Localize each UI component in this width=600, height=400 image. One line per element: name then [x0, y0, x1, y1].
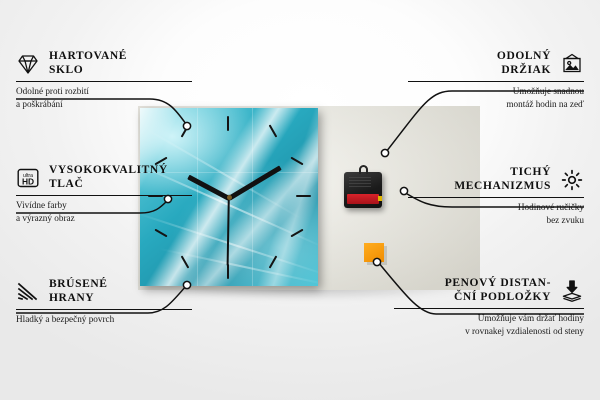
feature-title-line2: TLAČ [49, 178, 168, 192]
divider [408, 81, 584, 82]
feature-desc-line2: bez zvuku [408, 214, 584, 227]
feature-title-line2: HRANY [49, 292, 108, 306]
feature-desc-line1: Umožňuje vám držať hodiny [394, 312, 584, 325]
divider [408, 197, 584, 198]
gear-icon [560, 168, 584, 192]
battery [347, 194, 379, 204]
feature-desc-line2: a výrazný obraz [16, 212, 192, 225]
clock-tick [296, 195, 311, 197]
feature-title-line1: ODOLNÝ [497, 50, 551, 64]
feature-title-line2: DRŽIAK [497, 64, 551, 78]
foam-spacer-pad [364, 243, 384, 262]
feature-title-line2: MECHANIZMUS [454, 180, 551, 194]
feature-title-line1: HARTOVANÉ [49, 50, 127, 64]
feature-print: ultra HD VYSOKOKVALITNÝ TLAČ Vivídne far… [16, 164, 192, 225]
feature-mechanism: TICHÝ MECHANIZMUS Hodinové ručičky bez z… [408, 166, 584, 227]
feature-desc-line2: v rovnakej vzdialenosti od steny [394, 325, 584, 338]
infographic-stage: HARTOVANÉ SKLO Odolné proti rozbití a po… [0, 0, 600, 400]
feature-title-line2: SKLO [49, 64, 127, 78]
feature-foam: PENOVÝ DISTAN- ČNÍ PODLOŽKY Umožňuje vám… [394, 277, 584, 338]
divider [394, 308, 584, 309]
feature-glass: HARTOVANÉ SKLO Odolné proti rozbití a po… [16, 50, 192, 111]
clock-center-pivot [227, 195, 232, 200]
arrow-onto-layers-icon [560, 279, 584, 303]
feature-title-line1: TICHÝ [454, 166, 551, 180]
feature-desc-line2: montáž hodin na zeď [408, 98, 584, 111]
diagonal-lines-icon [16, 280, 40, 304]
feature-desc-line1: Vivídne farby [16, 199, 192, 212]
feature-title-line1: VYSOKOKVALITNÝ [49, 164, 168, 178]
feature-desc-line1: Odolné proti rozbití [16, 85, 192, 98]
ultra-hd-icon-main: HD [22, 176, 34, 186]
feature-holder: ODOLNÝ DRŽIAK Umožňuje snadnou montáž ho… [408, 50, 584, 111]
feature-title-line1: PENOVÝ DISTAN- [445, 277, 551, 291]
clock-tick [227, 264, 229, 279]
divider [16, 195, 192, 196]
clock-tick [227, 116, 229, 131]
divider [16, 81, 192, 82]
movement-hanger [359, 165, 368, 174]
movement-label [349, 177, 371, 188]
ultra-hd-icon: ultra HD [16, 166, 40, 190]
picture-frame-hanger-icon [560, 52, 584, 76]
diamond-icon [16, 52, 40, 76]
feature-desc-line1: Hodinové ručičky [408, 201, 584, 214]
feature-edges: BRÚSENÉ HRANY Hladký a bezpečný povrch [16, 278, 192, 326]
feature-desc-line2: a poškrábání [16, 98, 192, 111]
feature-desc-line1: Umožňuje snadnou [408, 85, 584, 98]
divider [16, 309, 192, 310]
feature-desc-line1: Hladký a bezpečný povrch [16, 313, 192, 326]
feature-title-line1: BRÚSENÉ [49, 278, 108, 292]
feature-title-line2: ČNÍ PODLOŽKY [445, 291, 551, 305]
clock-movement [344, 172, 382, 208]
